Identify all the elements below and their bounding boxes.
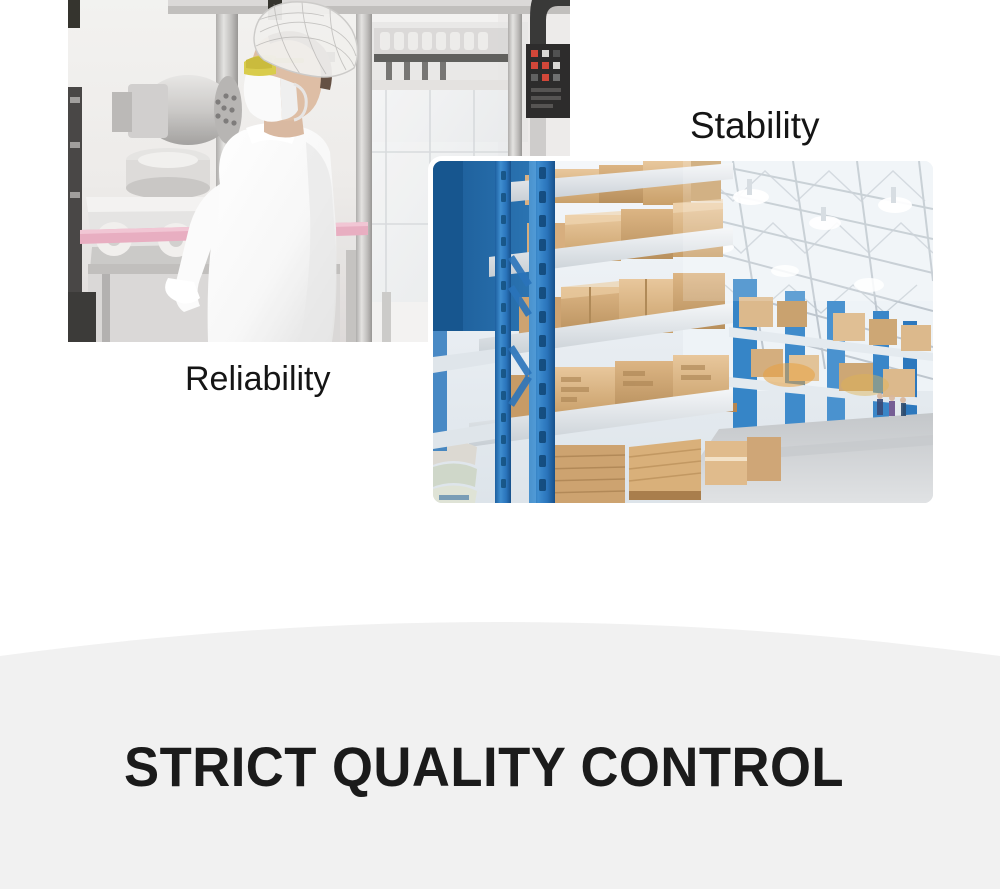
- quality-control-banner: Reliability: [0, 0, 1000, 889]
- photo-warehouse-racking: [433, 161, 933, 503]
- page-title: STRICT QUALITY CONTROL: [124, 738, 844, 796]
- caption-reliability: Reliability: [185, 360, 331, 399]
- caption-stability: Stability: [690, 105, 820, 147]
- warehouse-photo-artwork: [433, 161, 933, 503]
